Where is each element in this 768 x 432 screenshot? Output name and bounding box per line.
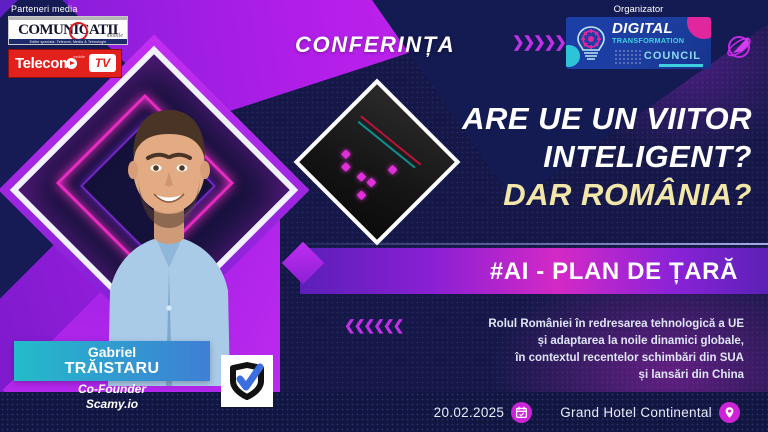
photo-dot <box>366 178 376 188</box>
headline-line-1: ARE UE UN VIITOR <box>422 100 752 138</box>
dtc-line-digital: DIGITAL <box>612 21 684 36</box>
headline-line-3: DAR ROMÂNIA? <box>422 176 752 214</box>
telecom-tv-logo[interactable]: Telecom mobile TV <box>8 49 122 78</box>
headline-block: ARE UE UN VIITOR INTELIGENT? DAR ROMÂNIA… <box>422 100 752 214</box>
conference-kicker: CONFERINȚA <box>295 32 455 58</box>
calendar-icon <box>511 402 532 423</box>
speaker-portrait <box>22 62 292 342</box>
topic-banner-text: #AI - PLAN DE ȚARĂ <box>490 258 738 286</box>
speaker-last-name: TRĂISTARU <box>65 360 160 378</box>
play-icon <box>66 58 77 69</box>
headline-divider <box>300 243 768 245</box>
photo-dot <box>341 162 351 172</box>
photo-dot <box>356 190 366 200</box>
location-pin-icon <box>719 402 740 423</box>
speaker-nameplate: Gabriel TRĂISTARU <box>14 341 210 381</box>
dtc-wordmark: DIGITAL TRANSFORMATION <box>612 21 684 45</box>
lightbulb-gear-icon <box>574 24 608 62</box>
speaker-first-name: Gabriel <box>88 345 136 360</box>
comunicatii-tagline: Editie speciala: Telecom, Media & Tehnol… <box>9 39 127 44</box>
media-partners: Parteneri media COMUNICATII mobile Editi… <box>8 4 138 78</box>
photo-dot <box>356 171 366 181</box>
telecom-sub: mobile <box>73 54 85 59</box>
photo-line-teal <box>358 121 416 168</box>
tv-badge: TV <box>89 54 116 72</box>
photo-line-red <box>361 115 422 165</box>
headline-line-2: INTELIGENT? <box>422 138 752 176</box>
media-partners-label: Parteneri media <box>11 4 138 14</box>
footer: 20.02.2025 Grand Hotel Continental <box>0 392 768 432</box>
footer-venue-item: Grand Hotel Continental <box>560 402 740 423</box>
logo-accent-circle <box>687 17 711 39</box>
photo-dot <box>388 165 398 175</box>
comunicatii-mobile-logo[interactable]: COMUNICATII mobile Editie speciala: Tele… <box>8 16 128 45</box>
description-line-1: Rolul României în redresarea tehnologică… <box>384 316 744 333</box>
conference-poster: Parteneri media COMUNICATII mobile Editi… <box>0 0 768 432</box>
description-line-4: și lansări din China <box>384 367 744 384</box>
footer-date: 20.02.2025 <box>434 405 505 420</box>
dtc-line-transformation: TRANSFORMATION <box>612 36 684 45</box>
dtc-dot-pattern <box>614 49 642 65</box>
comunicatii-wordmark: COMUNICATII <box>18 22 118 39</box>
description-block: Rolul României în redresarea tehnologică… <box>384 316 744 384</box>
description-line-3: în contextul recentelor schimbări din SU… <box>384 350 744 367</box>
dtc-line-council: COUNCIL <box>644 50 701 62</box>
organizer-label: Organizator <box>566 4 711 15</box>
description-line-2: și adaptarea la noile dinamici globale, <box>384 333 744 350</box>
organizer-block: Organizator <box>566 4 711 69</box>
logo-top-strip <box>9 17 127 20</box>
digital-transformation-council-logo[interactable]: DIGITAL TRANSFORMATION COUNCIL <box>566 17 711 69</box>
footer-date-item: 20.02.2025 <box>434 402 533 423</box>
footer-venue: Grand Hotel Continental <box>560 405 712 420</box>
dtc-underline <box>659 64 703 67</box>
photo-dot <box>341 150 351 160</box>
rocket-planet-icon <box>724 30 756 62</box>
telecom-wordmark: Telecom <box>15 55 72 72</box>
